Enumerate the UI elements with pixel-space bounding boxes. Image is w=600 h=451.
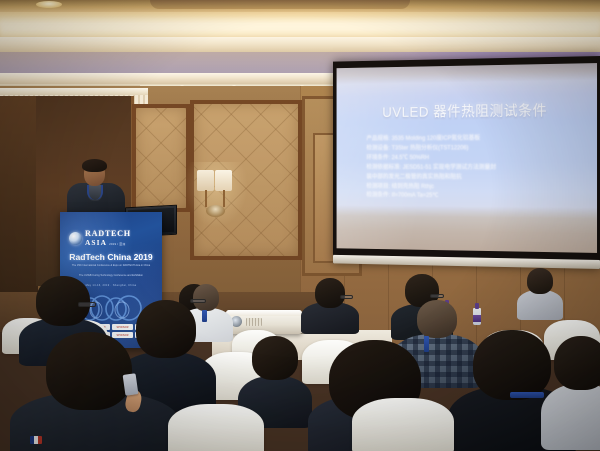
person-head — [252, 336, 298, 380]
presenter-hair — [82, 159, 107, 172]
sconce-shade-right — [215, 170, 232, 191]
slide-body: 产品规格: 3535 Molding 120度ICP氮化铝基板 检测设备: T3… — [366, 133, 580, 202]
slide-line: 检测设备: T3Ster 热阻分析仪(TST12206) — [366, 143, 580, 153]
ceiling-cove-light — [0, 16, 600, 38]
brand-name: RADTECH — [85, 230, 131, 238]
smartphone[interactable] — [123, 373, 139, 396]
person-head — [417, 300, 457, 338]
lanyard — [510, 392, 544, 398]
chair — [352, 398, 454, 451]
slide-line: 检测依据标准: JESD51-51 实现电学测试方法测量封 — [366, 163, 580, 173]
slide-line: 环境条件: 24.5℃ 50%RH — [366, 153, 580, 163]
screen-surface: UVLED 器件热阻测试条件 产品规格: 3535 Molding 120度IC… — [337, 63, 597, 253]
person-head — [36, 276, 90, 326]
ceiling-lamp — [36, 1, 62, 8]
person-torso — [517, 290, 563, 320]
fluted-wall-cap — [0, 88, 148, 95]
person-head — [527, 268, 553, 294]
glasses-icon — [78, 302, 96, 307]
slide-title: UVLED 器件热阻测试条件 — [337, 99, 597, 122]
audience-member — [518, 268, 562, 312]
glasses-icon — [340, 295, 353, 299]
sconce-arm-left — [205, 190, 207, 207]
crown-molding-upper — [0, 37, 600, 53]
slide-line: 装中部的发光二极管的真实热阻和阻抗 — [366, 172, 580, 182]
radtech-wordmark: RADTECH ASIA 2019 / 亚洲 — [85, 230, 131, 247]
globe-icon — [69, 232, 82, 245]
conference-room-photo: UVLED 器件热阻测试条件 产品规格: 3535 Molding 120度IC… — [0, 0, 600, 451]
fabric-wall-panel — [132, 104, 190, 212]
person-torso — [541, 384, 600, 450]
event-subtitle-1: The 15th International Conference & Expo… — [66, 264, 156, 268]
person-head — [315, 278, 345, 308]
brand-region-sub: 2019 / 亚洲 — [109, 243, 125, 246]
sconce-base — [206, 205, 225, 217]
person-hair — [554, 336, 600, 390]
audience-member-with-phone — [20, 332, 170, 451]
slide-line: 检测条件: If=700mA Ta=25℃ — [366, 191, 580, 202]
sconce-arm-right — [223, 190, 225, 207]
badge — [30, 436, 42, 444]
person-head — [473, 330, 551, 400]
presentation-slide: UVLED 器件热阻测试条件 产品规格: 3535 Molding 120度IC… — [337, 63, 597, 253]
person-head — [46, 332, 132, 410]
event-title: RadTech China 2019 — [60, 252, 162, 262]
projection-screen: UVLED 器件热阻测试条件 产品规格: 3535 Molding 120度IC… — [333, 56, 600, 269]
audience-member — [240, 336, 310, 416]
chair — [168, 404, 264, 451]
sconce-shade-left — [197, 170, 214, 191]
brand-region: ASIA — [85, 239, 107, 246]
audience-member — [546, 336, 600, 446]
radtech-logo: RADTECH ASIA 2019 / 亚洲 — [69, 229, 155, 248]
audience-member — [300, 278, 360, 326]
ceiling-recess-inner — [150, 0, 410, 9]
projector-vent — [246, 318, 262, 326]
brand-region-row: ASIA 2019 / 亚洲 — [85, 239, 131, 246]
wall-sconce — [196, 170, 236, 222]
glasses-icon — [430, 294, 444, 298]
dark-door-far-left — [0, 96, 38, 296]
